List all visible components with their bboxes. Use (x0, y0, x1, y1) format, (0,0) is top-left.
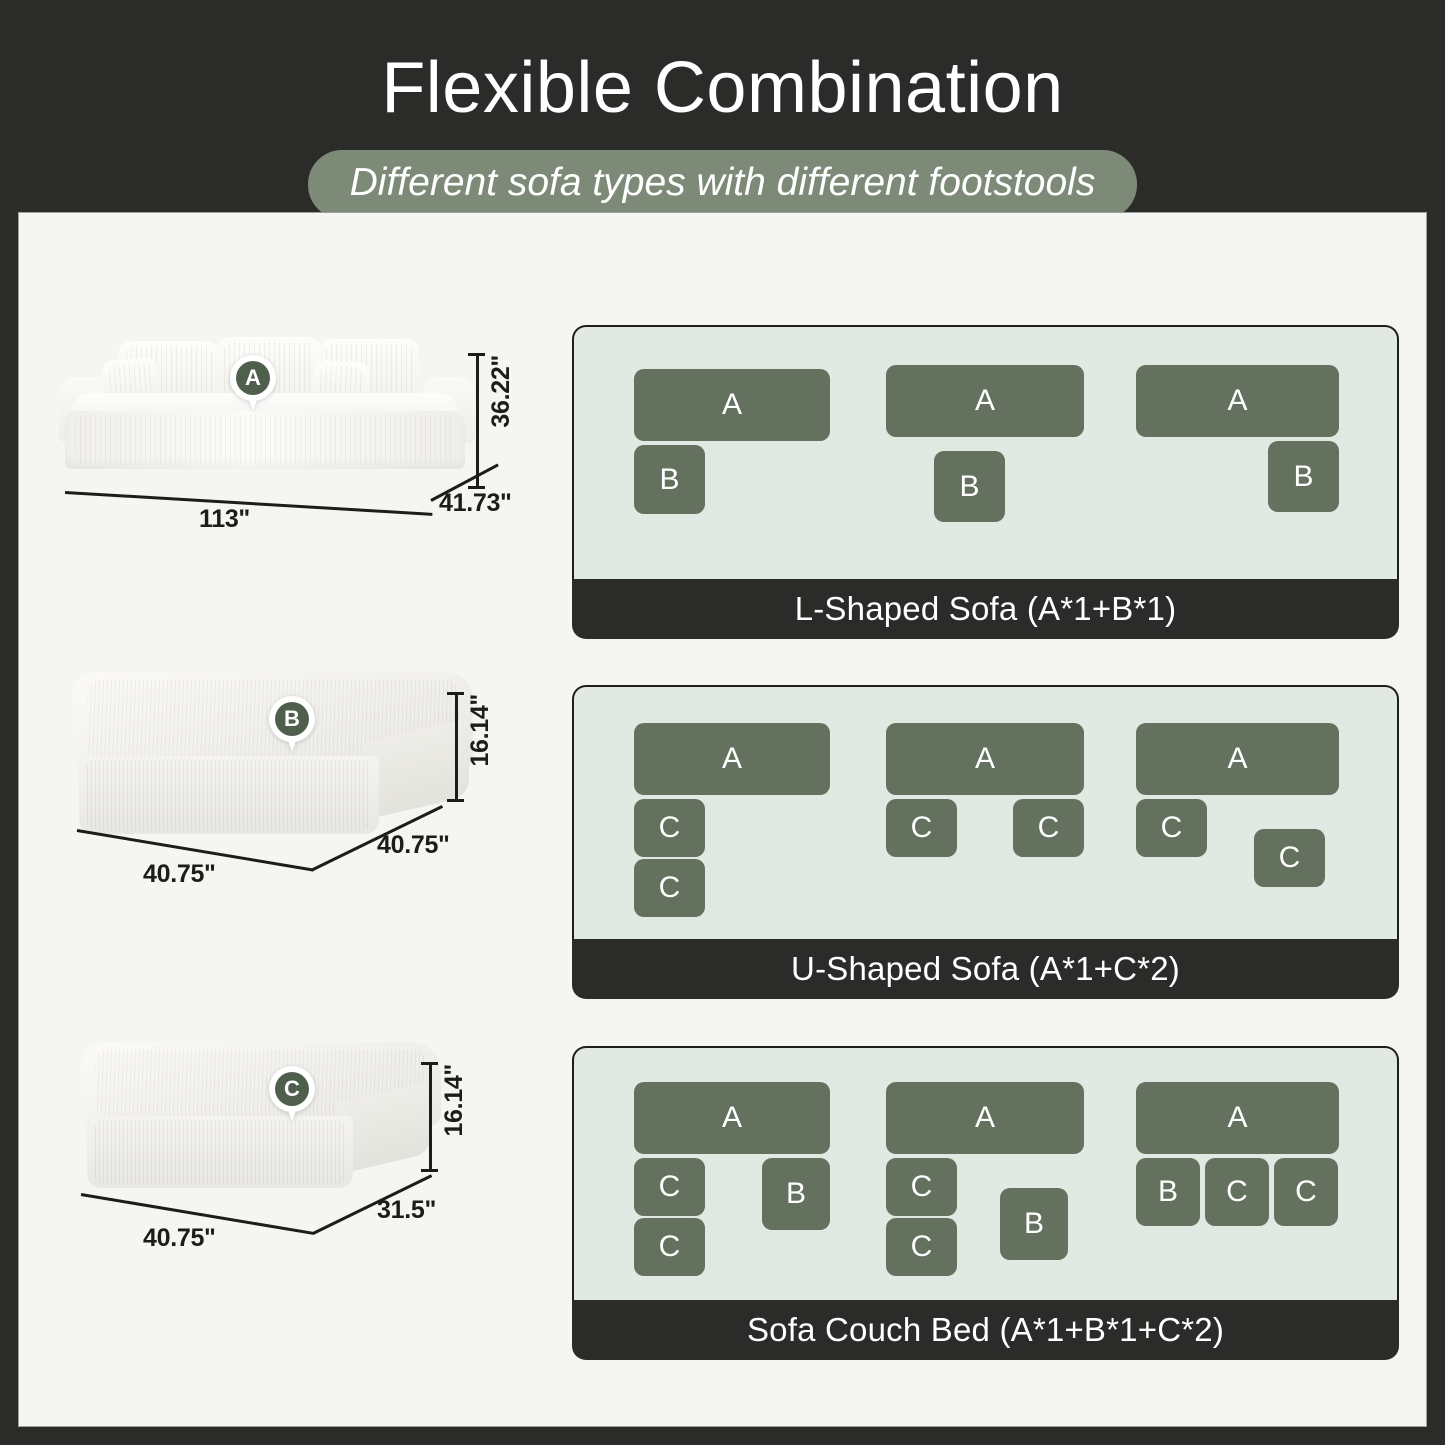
module-block-c: C (634, 1158, 705, 1216)
header: Flexible Combination Different sofa type… (0, 0, 1445, 212)
module-block-c: C (634, 799, 705, 857)
dim-line-height-a (476, 353, 479, 489)
marker-pin-b: B (269, 696, 315, 754)
module-block-a: A (1136, 723, 1339, 795)
diagram-blocks-area: ABABAB (572, 325, 1399, 579)
module-block-b: B (1268, 441, 1339, 512)
ottoman-front (79, 756, 379, 834)
dim-height-a: 36.22" (487, 355, 516, 428)
dim-depth-c: 31.5" (377, 1196, 436, 1225)
dim-cap-bottom (421, 1169, 438, 1172)
diagram-blocks-area: ACCBACCBABCC (572, 1046, 1399, 1300)
module-block-c: C (1254, 829, 1325, 887)
pin-label: B (275, 702, 309, 736)
product-card-a: A 36.22" 113" 41.73" (47, 333, 567, 583)
module-block-a: A (1136, 365, 1339, 437)
diagram-label: L-Shaped Sofa (A*1+B*1) (572, 579, 1399, 639)
module-block-a: A (886, 723, 1084, 795)
module-block-b: B (1000, 1188, 1068, 1260)
module-block-c: C (1274, 1158, 1338, 1226)
dim-cap-bottom (447, 799, 464, 802)
module-block-a: A (634, 1082, 830, 1154)
module-block-c: C (634, 1218, 705, 1276)
dim-height-c: 16.14" (440, 1064, 469, 1137)
module-block-b: B (762, 1158, 830, 1230)
module-block-a: A (886, 365, 1084, 437)
pin-label: C (275, 1072, 309, 1106)
content-board: A 36.22" 113" 41.73" (18, 212, 1427, 1427)
module-block-c: C (886, 1158, 957, 1216)
dim-height-b: 16.14" (466, 694, 495, 767)
product-card-c: C 16.14" 40.75" 31.5" (47, 1038, 567, 1298)
module-block-c: C (886, 799, 957, 857)
dim-line-height-b (455, 692, 458, 802)
diagram-panel-sofa-couch-bed: ACCBACCBABCC Sofa Couch Bed (A*1+B*1+C*2… (572, 1046, 1399, 1360)
diagram-panel-u-shaped: ACCACCACC U-Shaped Sofa (A*1+C*2) (572, 685, 1399, 999)
product-illustration-b: B 16.14" 40.75" 40.75" (47, 668, 567, 928)
dim-width-b: 40.75" (143, 860, 216, 889)
marker-pin-c: C (269, 1066, 315, 1124)
module-block-b: B (1136, 1158, 1200, 1226)
product-illustration-a: A 36.22" 113" 41.73" (47, 333, 567, 583)
module-block-c: C (634, 859, 705, 917)
dim-depth-a: 41.73" (439, 489, 512, 518)
module-block-a: A (634, 723, 830, 795)
pin-label: A (236, 361, 270, 395)
dim-line-height-c (429, 1062, 432, 1172)
diagram-blocks-area: ACCACCACC (572, 685, 1399, 939)
diagram-label: Sofa Couch Bed (A*1+B*1+C*2) (572, 1300, 1399, 1360)
module-block-a: A (886, 1082, 1084, 1154)
module-block-a: A (1136, 1082, 1339, 1154)
dim-depth-b: 40.75" (377, 831, 450, 860)
module-block-c: C (1205, 1158, 1269, 1226)
dim-width-a: 113" (199, 505, 250, 534)
product-card-b: B 16.14" 40.75" 40.75" (47, 668, 567, 928)
sofa-base (65, 411, 465, 469)
module-block-b: B (634, 445, 705, 514)
poster: Flexible Combination Different sofa type… (0, 0, 1445, 1445)
subtitle-pill: Different sofa types with different foot… (308, 150, 1138, 219)
module-block-c: C (1136, 799, 1207, 857)
dim-width-c: 40.75" (143, 1224, 216, 1253)
diagram-panel-l-shaped: ABABAB L-Shaped Sofa (A*1+B*1) (572, 325, 1399, 639)
module-block-a: A (634, 369, 830, 441)
diagram-label: U-Shaped Sofa (A*1+C*2) (572, 939, 1399, 999)
module-block-c: C (886, 1218, 957, 1276)
marker-pin-a: A (230, 355, 276, 413)
ottoman-front (87, 1116, 353, 1188)
module-block-b: B (934, 451, 1005, 522)
product-illustration-c: C 16.14" 40.75" 31.5" (47, 1038, 567, 1298)
module-block-c: C (1013, 799, 1084, 857)
page-title: Flexible Combination (381, 52, 1063, 124)
